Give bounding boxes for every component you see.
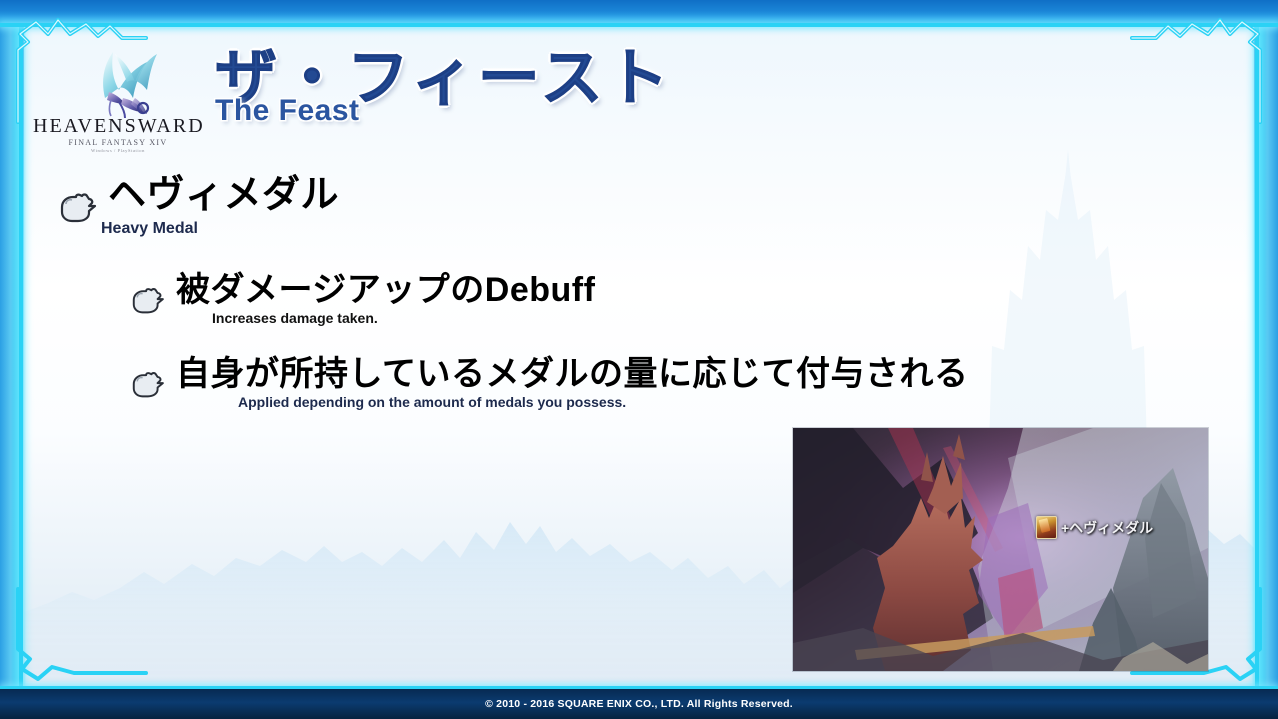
bullet-item-medal-amount: 自身が所持しているメダルの量に応じて付与される Applied dependin… xyxy=(0,357,1278,411)
bullet-text-japanese: ヘヴィメダル xyxy=(108,176,339,216)
logo-series-name: FINAL FANTASY XIV xyxy=(33,138,203,147)
gameplay-screenshot-inset: +ヘヴィメダル xyxy=(793,428,1208,671)
heavensward-logo: HEAVENSWARD FINAL FANTASY XIV Windows / … xyxy=(33,42,203,162)
bullet-text-english: Heavy Medal xyxy=(101,220,339,238)
bullet-text-japanese: 被ダメージアップのDebuff xyxy=(176,273,595,309)
bullet-list: ヘヴィメダル Heavy Medal 被ダメージアップのDebuff Incre… xyxy=(0,176,1278,411)
footer-bar: © 2010 - 2016 SQUARE ENIX CO., LTD. All … xyxy=(0,689,1278,719)
copyright-text: © 2010 - 2016 SQUARE ENIX CO., LTD. All … xyxy=(485,698,793,710)
logo-wordmark: HEAVENSWARD xyxy=(33,116,203,136)
bullet-text-english: Increases damage taken. xyxy=(212,311,595,326)
ornate-corner-top-right-icon xyxy=(1129,16,1264,126)
logo-platform-text: Windows / PlayStation xyxy=(33,148,203,153)
pointing-hand-icon xyxy=(128,285,166,315)
presentation-slide: HEAVENSWARD FINAL FANTASY XIV Windows / … xyxy=(0,0,1278,719)
bullet-text-english: Applied depending on the amount of medal… xyxy=(238,395,968,410)
bullet-item-heavy-medal: ヘヴィメダル Heavy Medal xyxy=(0,176,1278,237)
frame-top-glow-line xyxy=(0,23,1278,27)
frame-top-band xyxy=(0,0,1278,24)
buff-label: +ヘヴィメダル xyxy=(1061,518,1153,538)
pointing-hand-icon xyxy=(56,190,98,224)
bullet-text-japanese: 自身が所持しているメダルの量に応じて付与される xyxy=(176,357,968,393)
slide-title: ザ・フィースト The Feast xyxy=(215,48,673,128)
buff-notification: +ヘヴィメダル xyxy=(1036,516,1153,539)
pointing-hand-icon xyxy=(128,369,166,399)
bullet-item-debuff: 被ダメージアップのDebuff Increases damage taken. xyxy=(0,273,1278,326)
heavy-medal-buff-icon xyxy=(1036,516,1057,539)
heavensward-dragon-icon xyxy=(33,42,203,120)
ornate-corner-bottom-left-icon xyxy=(14,585,149,695)
